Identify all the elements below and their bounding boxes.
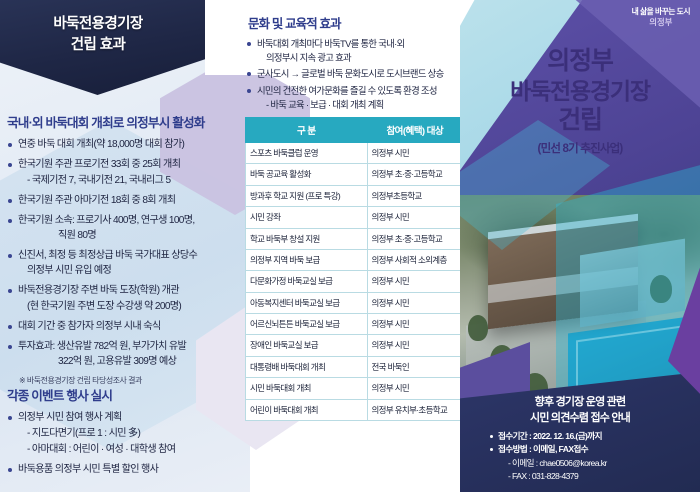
table-cell-category: 대통령배 바둑대회 개최 [246, 356, 368, 377]
table-row: 방과후 학교 지원 (프로 특강)의정부초등학교 [246, 185, 463, 206]
table-cell-target: 의정부 시민 [367, 143, 462, 164]
banner-title-line2: 건립 효과 [71, 37, 125, 53]
section-cultural-effects: 문화 및 교육적 효과 바둑대회 개최마다 바둑TV를 통한 국내·외 의정부시… [246, 14, 468, 115]
table-row: 스포츠 바둑클럽 운영의정부 시민 [246, 143, 463, 164]
title-subtitle: (민선 8기 추진사업) [460, 140, 700, 156]
notice-item-fax: - FAX : 031-828-4379 [508, 471, 700, 482]
left-banner-title: 바둑전용경기장 건립 효과 [0, 14, 196, 56]
table-cell-target: 의정부 시민 [367, 314, 462, 335]
bullet-text: 군사도시 → 글로벌 바둑 문화도시로 도시브랜드 상승 [257, 68, 444, 79]
bullet-text: 한국기원 소속: 프로기사 400명, 연구생 100명, [18, 215, 195, 226]
notice-heading-line1: 향후 경기장 운영 관련 [535, 396, 626, 408]
title-line-facility: 바둑전용경기장 [460, 77, 700, 105]
left-column: 바둑전용경기장 건립 효과 국내·외 바둑대회 개최로 의정부시 활성화 연중 … [0, 0, 245, 492]
notice-item-method: 접수방법 : 이메일, FAX접수 [490, 444, 700, 455]
list-item: 한국기원 소속: 프로기사 400명, 연구생 100명, 직원 80명 [7, 214, 245, 243]
table-cell-target: 전국 바둑인 [367, 356, 462, 377]
table-row: 아동복지센터 바둑교실 보급의정부 시민 [246, 292, 463, 313]
bullet-subtext: 322억 원, 고용유발 309명 예상 [18, 355, 245, 369]
table-cell-category: 의정부 지역 바둑 보급 [246, 249, 368, 270]
table-cell-category: 시민 바둑대회 개최 [246, 378, 368, 399]
bullet-subtext: 의정부시 지속 광고 효과 [257, 52, 468, 65]
table-cell-category: 어르신뇌튼튼 바둑교실 보급 [246, 314, 368, 335]
table-cell-target: 의정부 초·중·고등학교 [367, 228, 462, 249]
table-cell-category: 장애인 바둑교실 보급 [246, 335, 368, 356]
table-header-category: 구 분 [246, 118, 368, 143]
table-row: 의정부 지역 바둑 보급의정부 사회적 소외계층 [246, 249, 463, 270]
notice-item-period: 접수기간 : 2022. 12. 16.(금)까지 [490, 431, 700, 442]
list-item: 한국기원 주관 프로기전 33회 중 25회 개최 - 국제기전 7, 국내기전… [7, 158, 245, 188]
table-cell-category: 어린이 바둑대회 개최 [246, 399, 368, 420]
banner-title-line1: 바둑전용경기장 [53, 16, 142, 32]
right-column: 내 삶을 바꾸는 도시 의정부 의정부 바둑전용경기장 건립 (민선 8기 추진… [460, 0, 700, 492]
table-header-row: 구 분 참여(혜택) 대상 [246, 118, 463, 143]
title-line-construction: 건립 [460, 105, 700, 136]
table-row: 학교 바둑부 창설 지원의정부 초·중·고등학교 [246, 228, 463, 249]
bullet-subtext: - 국제기전 7, 국내기전 21, 국내리그 5 [18, 174, 245, 188]
middle-column: 문화 및 교육적 효과 바둑대회 개최마다 바둑TV를 통한 국내·외 의정부시… [240, 0, 468, 492]
effects-table: 구 분 참여(혜택) 대상 스포츠 바둑클럽 운영의정부 시민바둑 공교육 활성… [245, 117, 463, 421]
table-cell-target: 의정부 시민 [367, 292, 462, 313]
table-cell-category: 스포츠 바둑클럽 운영 [246, 143, 368, 164]
table-row: 시민 바둑대회 개최의정부 시민 [246, 378, 463, 399]
ci-slogan: 내 삶을 바꾸는 도시 [632, 8, 690, 17]
table-row: 대통령배 바둑대회 개최전국 바둑인 [246, 356, 463, 377]
section-a-heading: 국내·외 바둑대회 개최로 의정부시 활성화 [7, 112, 245, 131]
table-row: 시민 강좌의정부 시민 [246, 207, 463, 228]
list-item: 대회 기간 중 참가자 의정부 시내 숙식 [7, 320, 245, 334]
list-item: 연중 바둑 대회 개최(약 18,000명 대회 참가) [7, 138, 245, 152]
bullet-text: 연중 바둑 대회 개최(약 18,000명 대회 참가) [18, 139, 184, 150]
table-cell-target: 의정부 시민 [367, 335, 462, 356]
table-cell-category: 다문화가정 바둑교실 보급 [246, 271, 368, 292]
table-cell-target: 의정부 유치부·초등학교 [367, 399, 462, 420]
table-cell-category: 방과후 학교 지원 (프로 특강) [246, 185, 368, 206]
table-cell-target: 의정부 초·중·고등학교 [367, 164, 462, 185]
bullet-subtext: 직원 80명 [18, 229, 245, 243]
notice-heading: 향후 경기장 운영 관련 시민 의견수렴 접수 안내 [460, 395, 700, 426]
list-item: 바둑용품 의정부 시민 특별 할인 행사 [7, 463, 245, 477]
table-cell-category: 학교 바둑부 창설 지원 [246, 228, 368, 249]
bullet-text: 신진서, 최정 등 최정상급 바둑 국가대표 상당수 [18, 250, 197, 261]
section-regional-activation: 국내·외 바둑대회 개최로 의정부시 활성화 연중 바둑 대회 개최(약 18,… [7, 112, 245, 386]
list-item: 시민의 건전한 여가문화를 즐길 수 있도록 환경 조성 - 바둑 교육 · 보… [246, 85, 468, 111]
effects-table-wrapper: 구 분 참여(혜택) 대상 스포츠 바둑클럽 운영의정부 시민바둑 공교육 활성… [245, 117, 463, 421]
list-item: 바둑대회 개최마다 바둑TV를 통한 국내·외 의정부시 지속 광고 효과 [246, 38, 468, 64]
section-b-heading: 각종 이벤트 행사 실시 [7, 385, 245, 404]
table-row: 어린이 바둑대회 개최의정부 유치부·초등학교 [246, 399, 463, 420]
table-row: 어르신뇌튼튼 바둑교실 보급의정부 시민 [246, 314, 463, 335]
bullet-text: 바둑용품 의정부 시민 특별 할인 행사 [18, 464, 158, 475]
brochure-page: 바둑전용경기장 건립 효과 국내·외 바둑대회 개최로 의정부시 활성화 연중 … [0, 0, 700, 492]
table-cell-target: 의정부 시민 [367, 378, 462, 399]
notice-heading-line2: 시민 의견수렴 접수 안내 [530, 412, 630, 424]
bullet-text: 바둑대회 개최마다 바둑TV를 통한 국내·외 [257, 38, 404, 49]
table-cell-category: 시민 강좌 [246, 207, 368, 228]
list-item: 한국기원 주관 아마기전 18회 중 8회 개최 [7, 194, 245, 208]
table-header-target: 참여(혜택) 대상 [367, 118, 462, 143]
bullet-text: 한국기원 주관 아마기전 18회 중 8회 개최 [18, 195, 175, 206]
section-events: 각종 이벤트 행사 실시 의정부 시민 참여 행사 계획 - 지도다면기(프로 … [7, 385, 245, 483]
bullet-subtext: - 지도다면기(프로 1 : 시민 多) [18, 427, 245, 441]
list-item: 의정부 시민 참여 행사 계획 - 지도다면기(프로 1 : 시민 多) - 아… [7, 411, 245, 457]
list-item: 신진서, 최정 등 최정상급 바둑 국가대표 상당수 의정부 시민 유입 예정 [7, 249, 245, 279]
page-title: 의정부 바둑전용경기장 건립 (민선 8기 추진사업) [460, 46, 700, 156]
bullet-text: 바둑전용경기장 주변 바둑 도장(학원) 개관 [18, 285, 179, 296]
list-item: 군사도시 → 글로벌 바둑 문화도시로 도시브랜드 상승 [246, 68, 468, 81]
bullet-text: 한국기원 주관 프로기전 33회 중 25회 개최 [18, 159, 180, 170]
bullet-text: 투자효과: 생산유발 782억 원, 부가가치 유발 [18, 341, 186, 352]
bullet-text: 의정부 시민 참여 행사 계획 [18, 412, 122, 423]
list-item: 바둑전용경기장 주변 바둑 도장(학원) 개관 (현 한국기원 주변 도장 수강… [7, 284, 245, 314]
table-cell-target: 의정부 사회적 소외계층 [367, 249, 462, 270]
bullet-text: 시민의 건전한 여가문화를 즐길 수 있도록 환경 조성 [257, 85, 437, 96]
list-item: 투자효과: 생산유발 782억 원, 부가가치 유발 322억 원, 고용유발 … [7, 340, 245, 369]
bullet-subtext: - 바둑 교육 · 보급 · 대회 개최 계획 [257, 99, 468, 112]
table-cell-target: 의정부초등학교 [367, 185, 462, 206]
tree-icon [468, 315, 488, 341]
table-cell-category: 아동복지센터 바둑교실 보급 [246, 292, 368, 313]
table-row: 바둑 공교육 활성화의정부 초·중·고등학교 [246, 164, 463, 185]
bullet-subtext: (현 한국기원 주변 도장 수강생 약 200명) [18, 300, 245, 314]
bullet-text: 대회 기간 중 참가자 의정부 시내 숙식 [18, 321, 160, 332]
notice-item-email: - 이메일 : chae0506@korea.kr [508, 458, 700, 469]
table-row: 장애인 바둑교실 보급의정부 시민 [246, 335, 463, 356]
table-cell-target: 의정부 시민 [367, 271, 462, 292]
title-line-city: 의정부 [460, 46, 700, 77]
table-cell-target: 의정부 시민 [367, 207, 462, 228]
bullet-subtext-2: - 아마대회 : 어린이 · 여성 · 대학생 참여 [18, 443, 245, 457]
bullet-subtext: 의정부 시민 유입 예정 [18, 264, 245, 278]
middle-heading: 문화 및 교육적 효과 [248, 14, 468, 32]
notice-block: 향후 경기장 운영 관련 시민 의견수렴 접수 안내 접수기간 : 2022. … [460, 395, 700, 484]
city-ci-logo: 내 삶을 바꾸는 도시 의정부 [632, 8, 690, 28]
table-row: 다문화가정 바둑교실 보급의정부 시민 [246, 271, 463, 292]
ci-city-name: 의정부 [632, 18, 690, 28]
table-cell-category: 바둑 공교육 활성화 [246, 164, 368, 185]
